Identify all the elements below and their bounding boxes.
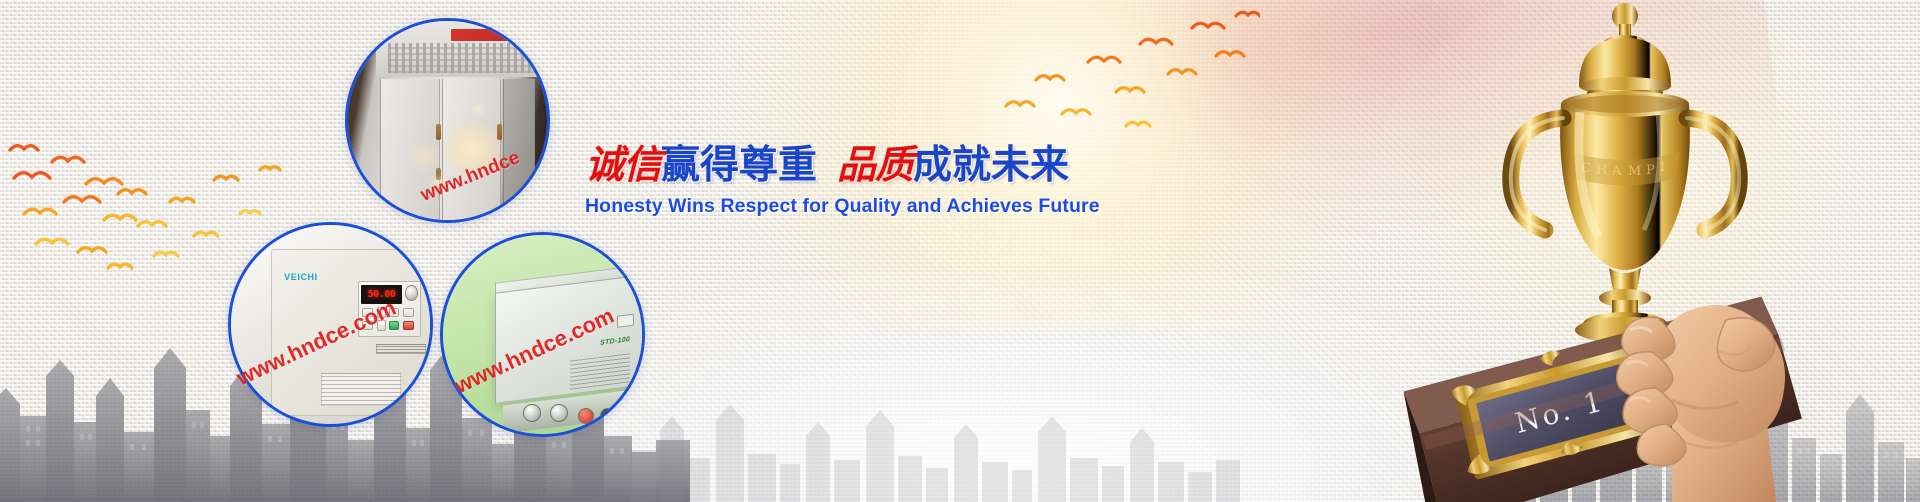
cloud-mist — [560, 272, 1560, 502]
vfd-photo: VEICHI 50.00 — [231, 225, 430, 424]
vfd-brand-label: VEICHI — [284, 272, 318, 282]
std-photo: STD-100 — [443, 235, 642, 434]
cityscape-silhouette-right — [1510, 312, 1920, 502]
svg-text:P: P — [1646, 163, 1655, 178]
vfd-led-display: 50.00 — [361, 285, 402, 304]
slogan-chinese-red-1: 诚信 — [585, 143, 661, 188]
slogan-chinese: 诚信赢得尊重品质成就未来 — [585, 146, 1055, 185]
svg-text:I: I — [1660, 160, 1665, 175]
red-flag-wash-secondary — [906, 0, 1554, 222]
cabinet-vent-grille — [388, 43, 535, 73]
bird-flock-right-icon — [1000, 10, 1260, 150]
vfd-warning-label — [321, 373, 401, 406]
red-flag-wash — [853, 0, 1787, 294]
svg-text:C: C — [1581, 161, 1591, 176]
vfd-led-value: 50.00 — [368, 289, 396, 300]
product-circle-std-100[interactable]: STD-100 — [440, 232, 645, 437]
cityscape-silhouette-middle — [620, 312, 1240, 502]
trophy-plaque-text: No. 1 — [1512, 384, 1608, 440]
svg-text:A: A — [1611, 164, 1622, 179]
std-terminal-plate — [617, 314, 634, 328]
slogan-chinese-blue-1: 赢得尊重 — [661, 143, 817, 188]
slogan-english: Honesty Wins Respect for Quality and Ach… — [585, 195, 1055, 218]
svg-text:M: M — [1628, 164, 1641, 179]
product-circle-electrical-cabinet[interactable] — [345, 18, 550, 223]
trophy-illustration: CH AM PI No. 1 — [1160, 0, 1920, 502]
product-circle-veichi-vfd[interactable]: VEICHI 50.00 — [228, 222, 433, 427]
cabinet-red-strip — [451, 29, 539, 41]
svg-text:H: H — [1596, 163, 1607, 178]
cabinet-photo — [348, 21, 547, 220]
slogan-chinese-blue-2: 成就未来 — [913, 143, 1069, 188]
vfd-potentiometer-knob — [405, 285, 417, 300]
slogan-chinese-red-2: 品质 — [837, 143, 913, 188]
slogan-block: 诚信赢得尊重品质成就未来 Honesty Wins Respect for Qu… — [585, 146, 1055, 218]
promotional-banner: www.hndce VEICHI 50.00 — [0, 0, 1920, 502]
vfd-spec-label — [376, 344, 426, 354]
sun-glow — [700, 0, 1420, 330]
vfd-keypad-panel: 50.00 — [358, 281, 422, 338]
